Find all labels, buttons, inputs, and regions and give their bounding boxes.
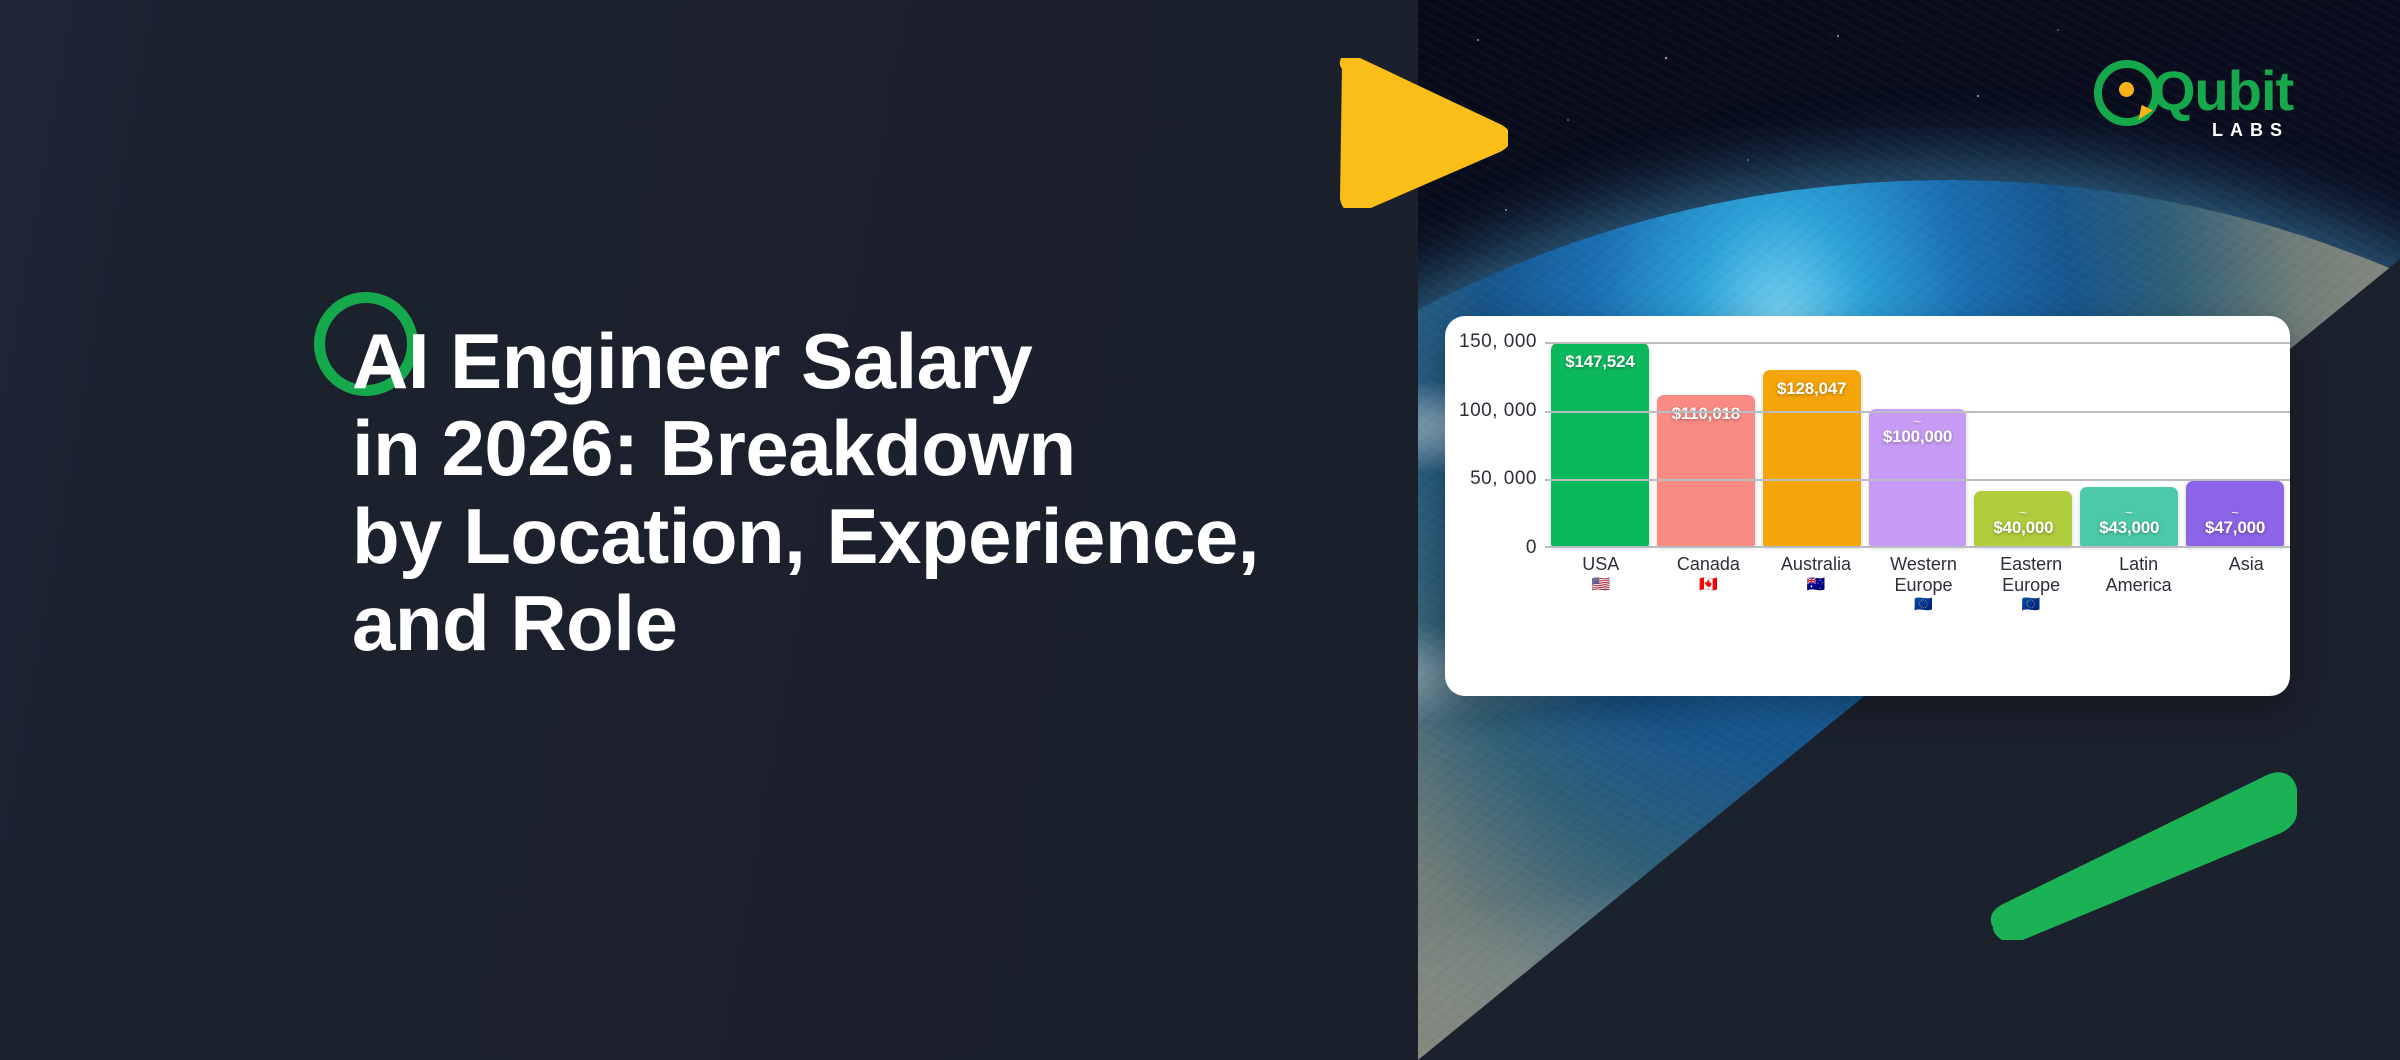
- country-flag-icon: 🇺🇸: [1551, 575, 1651, 595]
- gridline: [1545, 479, 2290, 481]
- x-axis-category-label: Western Europe🇪🇺: [1874, 554, 1974, 615]
- y-axis-tick-label: 150, 000: [1459, 331, 1537, 353]
- approx-marker: ~: [2231, 509, 2239, 518]
- bar-series: $147,524$110,018$128,047~$100,000~$40,00…: [1551, 342, 2284, 546]
- bar-value-label: $47,000: [2205, 518, 2265, 538]
- logo-wordmark: Qubit: [2152, 60, 2293, 122]
- bar[interactable]: ~$47,000: [2186, 481, 2284, 546]
- bar[interactable]: $147,524: [1551, 343, 1649, 546]
- bar[interactable]: ~$43,000: [2080, 487, 2178, 546]
- bar-value-label: $128,047: [1777, 379, 1846, 399]
- salary-bar-chart-card: 150, 000100, 00050, 0000 $147,524$110,01…: [1445, 316, 2290, 696]
- x-axis-labels: USA🇺🇸Canada🇨🇦Australia🇦🇺Western Europe🇪🇺…: [1551, 554, 2296, 615]
- headline-line-1: AI Engineer Salary: [352, 318, 1352, 405]
- gridline: [1545, 411, 2290, 413]
- y-axis: 150, 000100, 00050, 0000: [1465, 342, 1539, 548]
- x-axis-category-label: Asia: [2196, 554, 2296, 615]
- y-axis-tick-label: 0: [1526, 537, 1537, 559]
- country-flag-icon: 🇪🇺: [1981, 595, 2081, 615]
- bar-column[interactable]: ~$40,000: [1974, 342, 2072, 546]
- bar[interactable]: ~$40,000: [1974, 491, 2072, 546]
- y-axis-tick-label: 50, 000: [1470, 468, 1537, 490]
- qubit-logo-mark-icon: [2094, 60, 2160, 126]
- bar-column[interactable]: $110,018: [1657, 342, 1755, 546]
- bar[interactable]: $128,047: [1763, 370, 1861, 546]
- country-flag-icon: 🇦🇺: [1766, 575, 1866, 595]
- y-axis-tick-label: 100, 000: [1459, 400, 1537, 422]
- page-title: AI Engineer Salary in 2026: Breakdown by…: [352, 318, 1352, 667]
- bar-column[interactable]: $147,524: [1551, 342, 1649, 546]
- bar-value-label: $147,524: [1565, 352, 1634, 372]
- gridline: [1545, 342, 2290, 344]
- bar-value-label: $100,000: [1883, 427, 1952, 447]
- logo-dot-icon: [2119, 82, 2134, 97]
- bar-column[interactable]: ~$100,000: [1869, 342, 1967, 546]
- x-axis-category-label: Latin America: [2089, 554, 2189, 615]
- x-axis-category-label: Eastern Europe🇪🇺: [1981, 554, 2081, 615]
- bar-value-label: $40,000: [1993, 518, 2053, 538]
- country-flag-icon: 🇨🇦: [1659, 575, 1759, 595]
- bar[interactable]: $110,018: [1657, 395, 1755, 546]
- x-axis-category-label: Australia🇦🇺: [1766, 554, 1866, 615]
- country-flag-icon: 🇪🇺: [1874, 595, 1974, 615]
- headline-line-4: and Role: [352, 580, 1352, 667]
- headline-block: AI Engineer Salary in 2026: Breakdown by…: [352, 318, 1352, 667]
- bar-column[interactable]: ~$43,000: [2080, 342, 2178, 546]
- bar-column[interactable]: ~$47,000: [2186, 342, 2284, 546]
- x-axis-category-label: Canada🇨🇦: [1659, 554, 1759, 615]
- headline-line-3: by Location, Experience,: [352, 493, 1352, 580]
- approx-marker: ~: [2125, 509, 2133, 518]
- bar-value-label: $110,018: [1672, 404, 1740, 424]
- bar[interactable]: ~$100,000: [1869, 409, 1967, 546]
- plot-area: $147,524$110,018$128,047~$100,000~$40,00…: [1545, 342, 2290, 548]
- bar-column[interactable]: $128,047: [1763, 342, 1861, 546]
- approx-marker: ~: [2020, 509, 2028, 518]
- poster-canvas: AI Engineer Salary in 2026: Breakdown by…: [0, 0, 2400, 1060]
- x-axis-category-label: USA🇺🇸: [1551, 554, 1651, 615]
- axis-baseline: [1545, 546, 2290, 548]
- headline-line-2: in 2026: Breakdown: [352, 405, 1352, 492]
- logo-subtext: LABS: [2212, 120, 2289, 141]
- approx-marker: ~: [1914, 418, 1922, 427]
- qubit-labs-logo[interactable]: Qubit LABS: [2094, 58, 2304, 158]
- green-parallelogram-accent: [1985, 760, 2305, 940]
- bar-value-label: $43,000: [2099, 518, 2159, 538]
